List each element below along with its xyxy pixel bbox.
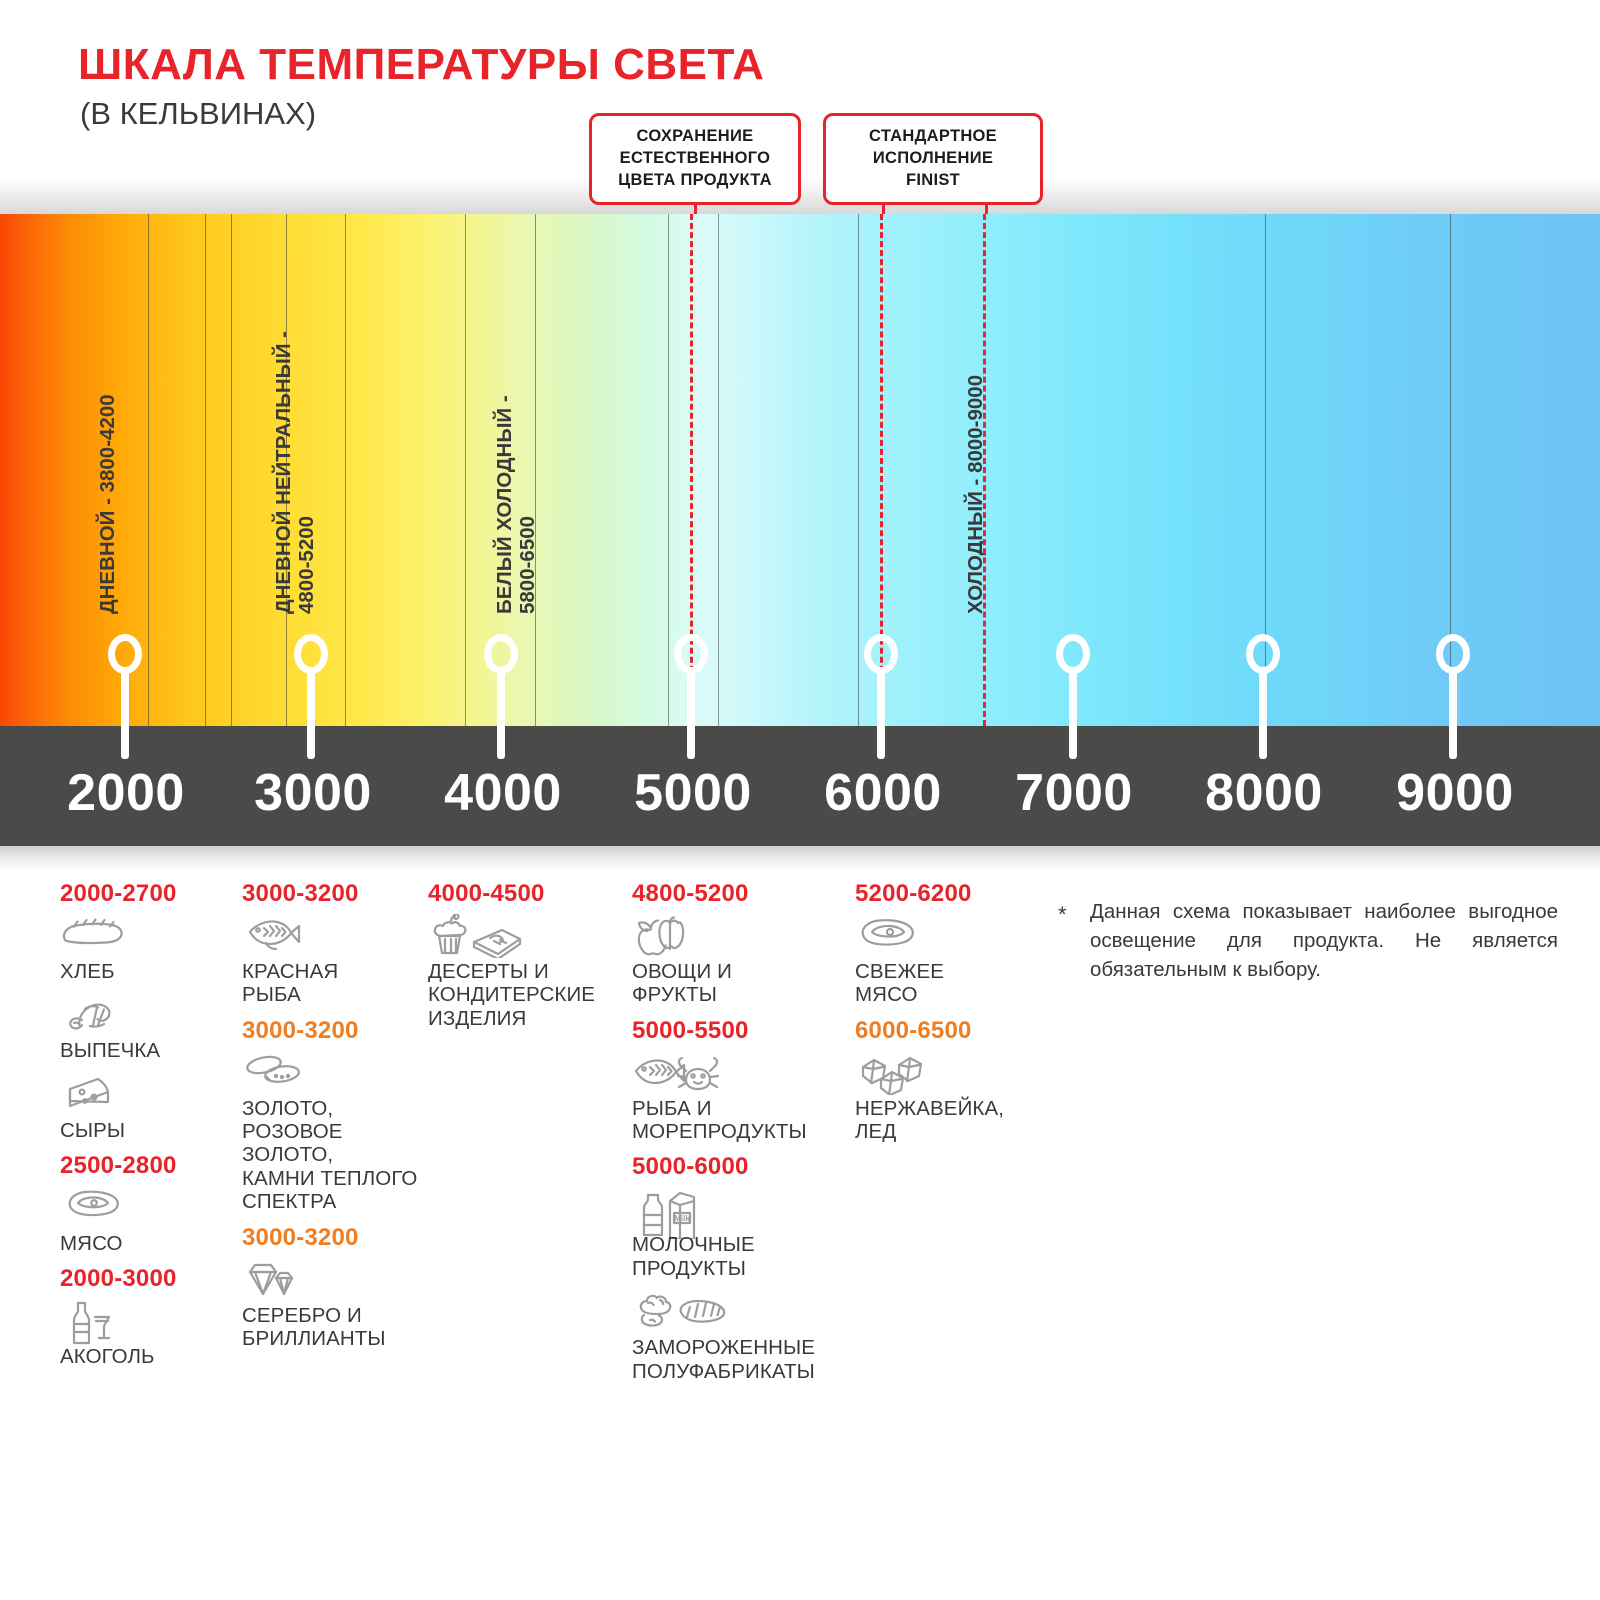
legend-range-label: 3000-3200 xyxy=(242,880,427,908)
red-fish-icon xyxy=(242,914,427,958)
legend-item-label: АКОГОЛЬ xyxy=(60,1345,235,1368)
legend-item: ЗАМОРОЖЕННЫЕ ПОЛУФАБРИКАТЫ xyxy=(632,1290,847,1383)
pin-marker-6000 xyxy=(864,634,898,758)
legend-item: СЕРЕБРО И БРИЛЛИАНТЫ xyxy=(242,1258,427,1351)
legend-item: MilkМОЛОЧНЫЕ ПРОДУКТЫ xyxy=(632,1187,847,1280)
scale-tick-6000: 6000 xyxy=(824,763,942,823)
bar-label-cold: ХОЛОДНЫЙ - 8000-9000 xyxy=(965,214,1365,614)
pin-marker-5000 xyxy=(674,634,708,758)
legend-item-label: ДЕСЕРТЫ И КОНДИТЕРСКИЕ ИЗДЕЛИЯ xyxy=(428,960,623,1030)
alcohol-icon xyxy=(60,1299,235,1343)
legend-column-5: 5200-6200СВЕЖЕЕ МЯСО6000-6500НЕРЖАВЕЙКА,… xyxy=(855,880,1040,1153)
legend: 2000-2700ХЛЕБВЫПЕЧКАСЫРЫ2500-2800МЯСО200… xyxy=(0,880,1600,1600)
legend-item-label: НЕРЖАВЕЙКА, ЛЕД xyxy=(855,1097,1040,1144)
pin-stem xyxy=(877,667,885,759)
legend-range-label: 2500-2800 xyxy=(60,1152,235,1180)
legend-column-2: 3000-3200КРАСНАЯ РЫБА3000-3200ЗОЛОТО, РО… xyxy=(242,880,427,1360)
dessert-icon xyxy=(428,914,623,958)
legend-group: 3000-3200ЗОЛОТО, РОЗОВОЕ ЗОЛОТО, КАМНИ Т… xyxy=(242,1017,427,1214)
legend-item: СЫРЫ xyxy=(60,1073,235,1142)
scale-band-shadow xyxy=(0,846,1600,870)
dashed-marker-finist-right xyxy=(983,214,986,726)
legend-item-label: КРАСНАЯ РЫБА xyxy=(242,960,427,1007)
rings-icon xyxy=(242,1051,427,1095)
legend-item: НЕРЖАВЕЙКА, ЛЕД xyxy=(855,1051,1040,1144)
pin-stem xyxy=(1069,667,1077,759)
footnote-marker: * xyxy=(1058,899,1067,930)
legend-item-label: ХЛЕБ xyxy=(60,960,235,983)
steak-icon xyxy=(60,1186,235,1230)
legend-range-label: 6000-6500 xyxy=(855,1017,1040,1045)
legend-item-label: ЗОЛОТО, РОЗОВОЕ ЗОЛОТО, КАМНИ ТЕПЛОГО СП… xyxy=(242,1097,427,1214)
legend-column-3: 4000-4500ДЕСЕРТЫ И КОНДИТЕРСКИЕ ИЗДЕЛИЯ xyxy=(428,880,623,1040)
legend-range-label: 3000-3200 xyxy=(242,1017,427,1045)
legend-item: КРАСНАЯ РЫБА xyxy=(242,914,427,1007)
callout-line-1: СТАНДАРТНОЕ xyxy=(838,126,1028,148)
legend-item-label: СЫРЫ xyxy=(60,1119,235,1142)
legend-item-label: РЫБА И МОРЕПРОДУКТЫ xyxy=(632,1097,847,1144)
pin-stem xyxy=(1449,667,1457,759)
pin-marker-2000 xyxy=(108,634,142,758)
legend-group: 6000-6500НЕРЖАВЕЙКА, ЛЕД xyxy=(855,1017,1040,1144)
seafood-icon xyxy=(632,1051,847,1095)
legend-range-label: 2000-2700 xyxy=(60,880,235,908)
frozen-icon xyxy=(632,1290,847,1334)
callout-line-3: FINIST xyxy=(838,170,1028,192)
pin-marker-7000 xyxy=(1056,634,1090,758)
legend-item-label: СЕРЕБРО И БРИЛЛИАНТЫ xyxy=(242,1304,427,1351)
legend-range-label: 5200-6200 xyxy=(855,880,1040,908)
legend-range-label: 3000-3200 xyxy=(242,1224,427,1252)
legend-group: 3000-3200КРАСНАЯ РЫБА xyxy=(242,880,427,1007)
legend-item: ЗОЛОТО, РОЗОВОЕ ЗОЛОТО, КАМНИ ТЕПЛОГО СП… xyxy=(242,1051,427,1214)
scale-tick-3000: 3000 xyxy=(254,763,372,823)
legend-item: РЫБА И МОРЕПРОДУКТЫ xyxy=(632,1051,847,1144)
legend-item: ОВОЩИ И ФРУКТЫ xyxy=(632,914,847,1007)
scale-tick-4000: 4000 xyxy=(444,763,562,823)
legend-item-label: СВЕЖЕЕ МЯСО xyxy=(855,960,1040,1007)
kelvin-gradient-bar: СУПЕР ТЕПЛЫЙ - 2200-2400 (тип К 2400) ТЕ… xyxy=(0,214,1600,726)
legend-item-label: ВЫПЕЧКА xyxy=(60,1039,235,1062)
page-title: ШКАЛА ТЕМПЕРАТУРЫ СВЕТА xyxy=(78,40,764,90)
legend-item-label: ОВОЩИ И ФРУКТЫ xyxy=(632,960,847,1007)
legend-item: МЯСО xyxy=(60,1186,235,1255)
pin-stem xyxy=(307,667,315,759)
bar-label-white-cold: БЕЛЫЙ ХОЛОДНЫЙ - 5800-6500 xyxy=(494,214,894,614)
callout-line-2: ИСПОЛНЕНИЕ xyxy=(838,148,1028,170)
legend-range-label: 2000-3000 xyxy=(60,1265,235,1293)
pin-stem xyxy=(1259,667,1267,759)
diamond-icon xyxy=(242,1258,427,1302)
fruits-veg-icon xyxy=(632,914,847,958)
legend-item-label: МОЛОЧНЫЕ ПРОДУКТЫ xyxy=(632,1233,847,1280)
callout-natural-color: СОХРАНЕНИЕ ЕСТЕСТВЕННОГО ЦВЕТА ПРОДУКТА xyxy=(589,113,801,205)
legend-range-label: 5000-6000 xyxy=(632,1153,847,1181)
legend-item: ВЫПЕЧКА xyxy=(60,993,235,1062)
legend-group: 2500-2800МЯСО xyxy=(60,1152,235,1255)
legend-range-label: 5000-5500 xyxy=(632,1017,847,1045)
legend-item: СВЕЖЕЕ МЯСО xyxy=(855,914,1040,1007)
scale-tick-5000: 5000 xyxy=(634,763,752,823)
scale-tick-2000: 2000 xyxy=(67,763,185,823)
scale-band xyxy=(0,726,1600,846)
legend-group: 3000-3200СЕРЕБРО И БРИЛЛИАНТЫ xyxy=(242,1224,427,1351)
svg-text:Milk: Milk xyxy=(674,1214,690,1223)
legend-range-label: 4000-4500 xyxy=(428,880,623,908)
legend-group: 4000-4500ДЕСЕРТЫ И КОНДИТЕРСКИЕ ИЗДЕЛИЯ xyxy=(428,880,623,1030)
legend-group: 2000-3000АКОГОЛЬ xyxy=(60,1265,235,1368)
pin-marker-4000 xyxy=(484,634,518,758)
legend-item: ДЕСЕРТЫ И КОНДИТЕРСКИЕ ИЗДЕЛИЯ xyxy=(428,914,623,1030)
legend-column-4: 4800-5200ОВОЩИ И ФРУКТЫ5000-5500РЫБА И М… xyxy=(632,880,847,1393)
legend-group: 5000-5500РЫБА И МОРЕПРОДУКТЫ xyxy=(632,1017,847,1144)
ice-cubes-icon xyxy=(855,1051,1040,1095)
legend-group: 4800-5200ОВОЩИ И ФРУКТЫ xyxy=(632,880,847,1007)
callout-line-3: ЦВЕТА ПРОДУКТА xyxy=(604,170,786,192)
pin-marker-3000 xyxy=(294,634,328,758)
legend-group: 2000-2700ХЛЕБВЫПЕЧКАСЫРЫ xyxy=(60,880,235,1142)
scale-tick-9000: 9000 xyxy=(1396,763,1514,823)
page-subtitle: (В КЕЛЬВИНАХ) xyxy=(80,96,316,132)
pin-marker-8000 xyxy=(1246,634,1280,758)
scale-tick-7000: 7000 xyxy=(1015,763,1133,823)
callout-line-1: СОХРАНЕНИЕ xyxy=(604,126,786,148)
infographic-root: ШКАЛА ТЕМПЕРАТУРЫ СВЕТА (В КЕЛЬВИНАХ) СО… xyxy=(0,0,1600,1600)
pin-stem xyxy=(121,667,129,759)
legend-group: 5000-6000MilkМОЛОЧНЫЕ ПРОДУКТЫЗАМОРОЖЕНН… xyxy=(632,1153,847,1382)
pin-marker-9000 xyxy=(1436,634,1470,758)
legend-item: ХЛЕБ xyxy=(60,914,235,983)
legend-item-label: ЗАМОРОЖЕННЫЕ ПОЛУФАБРИКАТЫ xyxy=(632,1336,847,1383)
pin-stem xyxy=(687,667,695,759)
scale-tick-8000: 8000 xyxy=(1205,763,1323,823)
cheese-icon xyxy=(60,1073,235,1117)
pin-stem xyxy=(497,667,505,759)
legend-range-label: 4800-5200 xyxy=(632,880,847,908)
footnote: * Данная схема показывает наиболее выгод… xyxy=(1058,897,1558,984)
footnote-text: Данная схема показывает наиболее выгодно… xyxy=(1090,897,1558,984)
legend-group: 5200-6200СВЕЖЕЕ МЯСО xyxy=(855,880,1040,1007)
bread-icon xyxy=(60,914,235,958)
callout-line-2: ЕСТЕСТВЕННОГО xyxy=(604,148,786,170)
legend-column-1: 2000-2700ХЛЕБВЫПЕЧКАСЫРЫ2500-2800МЯСО200… xyxy=(60,880,235,1379)
croissant-icon xyxy=(60,993,235,1037)
callout-finist-standard: СТАНДАРТНОЕ ИСПОЛНЕНИЕ FINIST xyxy=(823,113,1043,205)
milk-icon: Milk xyxy=(632,1187,847,1231)
legend-item: АКОГОЛЬ xyxy=(60,1299,235,1368)
fresh-meat-icon xyxy=(855,914,1040,958)
legend-item-label: МЯСО xyxy=(60,1232,235,1255)
